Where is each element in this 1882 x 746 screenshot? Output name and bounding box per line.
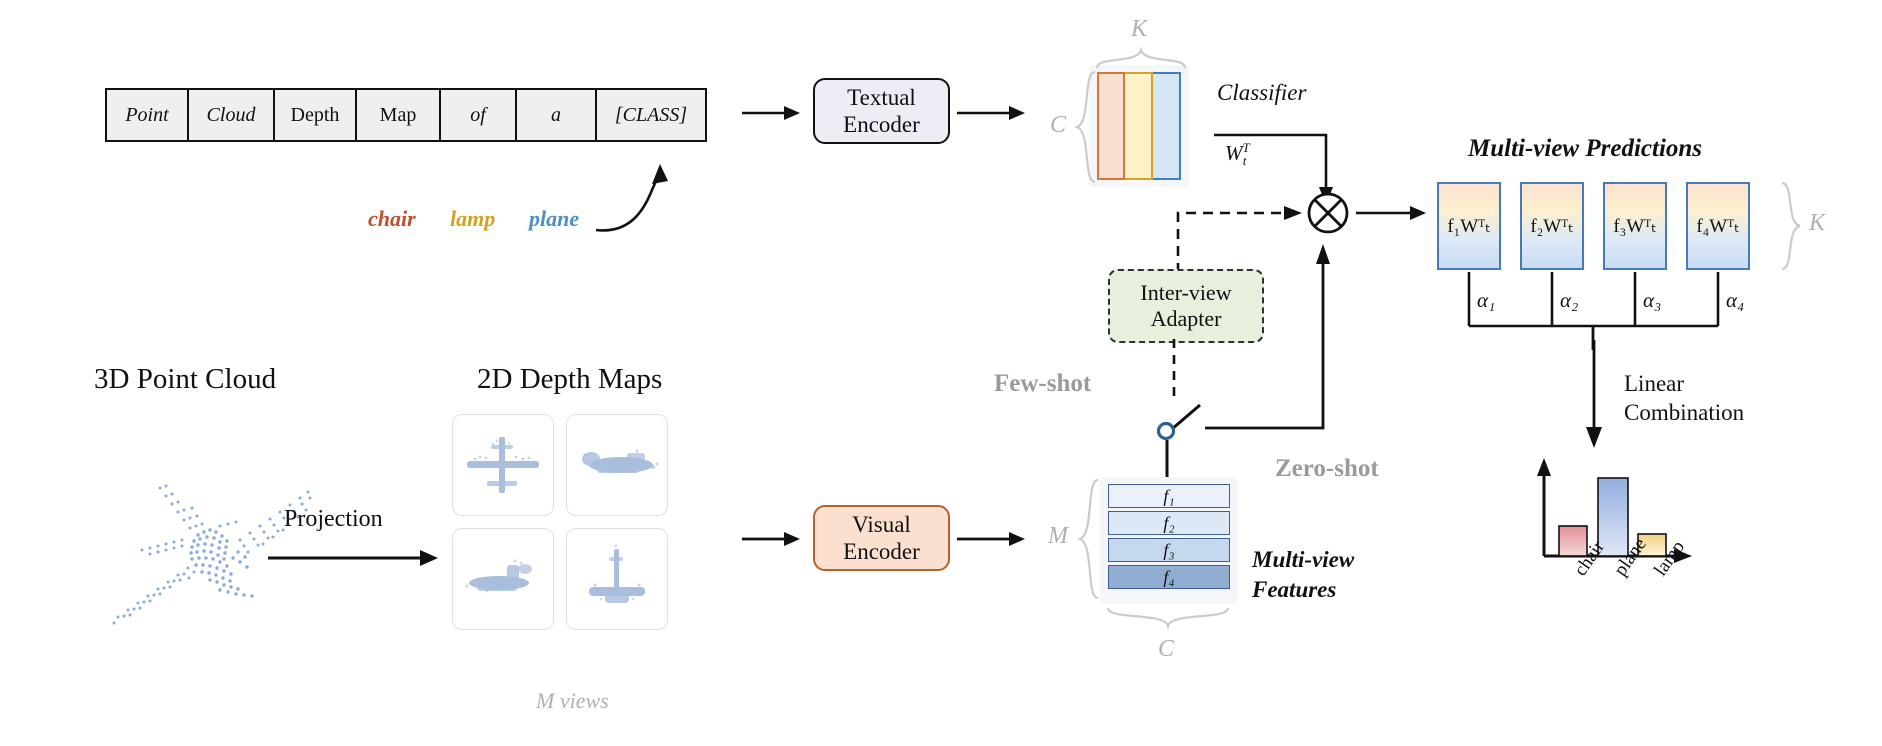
features-caption-line1: Multi-view [1252,545,1354,575]
prediction-box-1: f₁Wᵀₜ [1437,182,1501,270]
classifier-title: Classifier [1217,80,1306,106]
predictions-title: Multi-view Predictions [1468,135,1702,163]
textual-encoder-box[interactable]: Textual Encoder [813,78,950,144]
prediction-box-4: f₄Wᵀₜ [1686,182,1750,270]
arrow-prompt-to-textual-encoder [742,100,804,126]
classifier-matrix [1097,72,1181,180]
projection-label: Projection [284,506,383,533]
point-cloud-render [70,440,320,630]
prompt-cell-cloud: Cloud [189,90,275,140]
classifier-c-label: C [1050,112,1066,139]
depth-maps-caption: M views [536,688,609,714]
classifier-column-plane [1153,72,1181,180]
arrow-textual-encoder-to-classifier [957,100,1029,126]
depth-view-front [453,415,553,515]
prediction-box-2: f₂Wᵀₜ [1520,182,1584,270]
features-m-label: M [1048,523,1068,550]
depth-maps-title: 2D Depth Maps [477,363,662,396]
prompt-cell-depth: Depth [275,90,357,140]
depth-view-side [567,415,667,515]
depth-view-oblique [453,529,553,629]
arrow-multiply-to-predictions [1356,200,1430,226]
prompt-cell-map: Map [357,90,441,140]
prompt-template-row: Point Cloud Depth Map of a [CLASS] [105,88,707,142]
class-word-lamp: lamp [450,206,495,232]
alpha-weight-1: α₁ [1477,288,1495,313]
prompt-cell-class: [CLASS] [597,90,705,140]
depth-tile-1[interactable] [452,414,554,516]
few-shot-label: Few-shot [994,370,1091,398]
arrow-projection [268,545,442,571]
dashed-line-switch-to-adapter [1167,339,1181,407]
depth-tile-4[interactable] [566,528,668,630]
classifier-column-lamp [1125,72,1153,180]
features-c-brace-icon [1106,606,1232,630]
arrow-depthmaps-to-visual-encoder [742,526,804,552]
feature-row-3: f₃ [1108,538,1230,562]
arrow-visual-encoder-to-features [957,526,1029,552]
predictions-k-label: K [1809,210,1825,237]
classifier-c-brace-icon [1073,70,1099,186]
features-caption-line2: Features [1252,575,1354,605]
feature-row-4: f₄ [1108,565,1230,589]
prompt-cell-a: a [517,90,597,140]
class-word-chair: chair [368,206,416,232]
linear-combination-line2: Combination [1624,399,1744,428]
alpha-weight-4: α₄ [1726,288,1744,313]
zero-shot-path-to-multiply [1205,236,1335,430]
zero-shot-label: Zero-shot [1275,455,1379,483]
arrow-linear-combination-down [1583,340,1605,452]
predictions-k-brace-icon [1779,181,1805,273]
class-word-plane: plane [529,206,579,232]
alpha-weight-3: α₃ [1643,288,1661,313]
visual-encoder-line2: Encoder [843,538,920,565]
multi-view-features-stack: f₁ f₂ f₃ f₄ [1108,484,1230,589]
class-curved-arrow-icon [590,150,720,240]
prediction-box-3: f₃Wᵀₜ [1603,182,1667,270]
prediction-boxes-group: f₁Wᵀₜ f₂Wᵀₜ f₃Wᵀₜ f₄Wᵀₜ [1437,182,1750,270]
prompt-cell-point: Point [107,90,189,140]
point-cloud-title: 3D Point Cloud [94,363,276,396]
linear-combination-label: Linear Combination [1624,370,1744,428]
depth-tile-3[interactable] [452,528,554,630]
visual-encoder-box[interactable]: Visual Encoder [813,505,950,571]
visual-encoder-line1: Visual [852,511,911,538]
linear-combination-line1: Linear [1624,370,1744,399]
depth-view-top [567,529,667,629]
depth-tile-2[interactable] [566,414,668,516]
classifier-k-label: K [1131,16,1147,43]
classifier-k-brace-icon [1095,46,1187,70]
prediction-bar-chart: chair plane lamp [1526,456,1706,569]
feature-row-1: f₁ [1108,484,1230,508]
features-c-label: C [1158,636,1174,663]
classifier-column-chair [1097,72,1125,180]
feature-row-2: f₂ [1108,511,1230,535]
multi-view-features-caption: Multi-view Features [1252,545,1354,605]
features-m-brace-icon [1076,478,1102,602]
textual-encoder-line1: Textual [847,84,916,111]
textual-encoder-line2: Encoder [843,111,920,138]
depth-maps-grid [452,414,666,628]
prompt-cell-of: of [441,90,517,140]
figure-canvas: Point Cloud Depth Map of a [CLASS] chair… [0,0,1882,746]
alpha-weight-2: α₂ [1560,288,1578,313]
